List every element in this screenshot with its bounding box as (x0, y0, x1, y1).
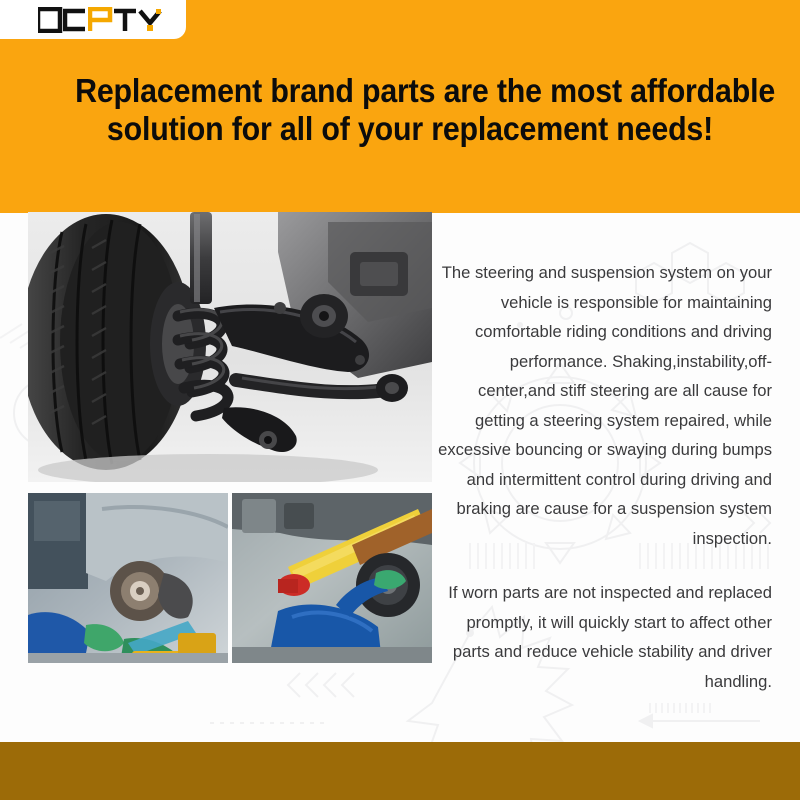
paragraph-2: If worn parts are not inspected and repl… (436, 578, 772, 696)
headline: Replacement brand parts are the most aff… (75, 72, 745, 148)
footer-band (0, 742, 800, 800)
logo-letter-o (38, 7, 63, 33)
logo-badge (0, 0, 186, 39)
logo-letter-t (113, 7, 138, 33)
main-product-image (28, 212, 432, 482)
promotional-banner: Replacement brand parts are the most aff… (0, 0, 800, 800)
under-vehicle-service-illustration (232, 493, 432, 663)
brake-disc-service-illustration (28, 493, 228, 663)
thumbnail-image-under-vehicle-service (232, 493, 432, 663)
headline-line-1: Replacement brand parts are the most aff… (75, 72, 745, 110)
logo-letter-c (63, 7, 88, 33)
description-text-column: The steering and suspension system on yo… (436, 258, 772, 696)
suspension-assembly-illustration (28, 212, 432, 482)
logo-letter-p (88, 7, 113, 33)
logo-letter-y (138, 7, 163, 33)
headline-line-2: solution for all of your replacement nee… (75, 110, 745, 148)
paragraph-1: The steering and suspension system on yo… (436, 258, 772, 553)
thumbnail-image-brake-service (28, 493, 228, 663)
ocpty-logo (38, 7, 163, 33)
